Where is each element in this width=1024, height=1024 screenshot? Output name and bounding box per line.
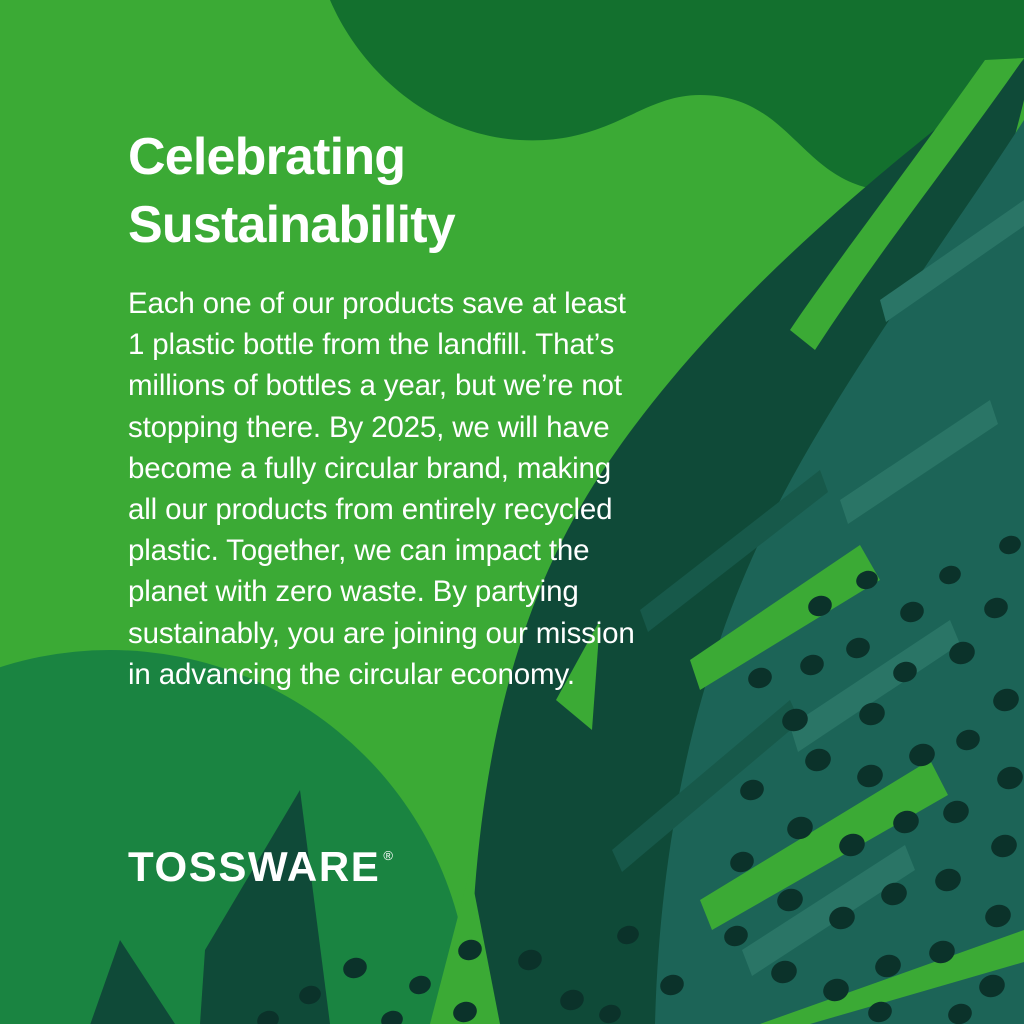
body-paragraph: Each one of our products save at least 1…	[128, 283, 728, 695]
poster-content: Celebrating Sustainability Each one of o…	[0, 0, 1024, 1024]
brand-wordmark: TOSSWARE	[128, 846, 380, 888]
sustainability-poster: Celebrating Sustainability Each one of o…	[0, 0, 1024, 1024]
registered-trademark-icon: ®	[383, 849, 393, 862]
brand-logo: TOSSWARE ®	[128, 846, 393, 888]
page-title: Celebrating Sustainability	[128, 123, 728, 259]
